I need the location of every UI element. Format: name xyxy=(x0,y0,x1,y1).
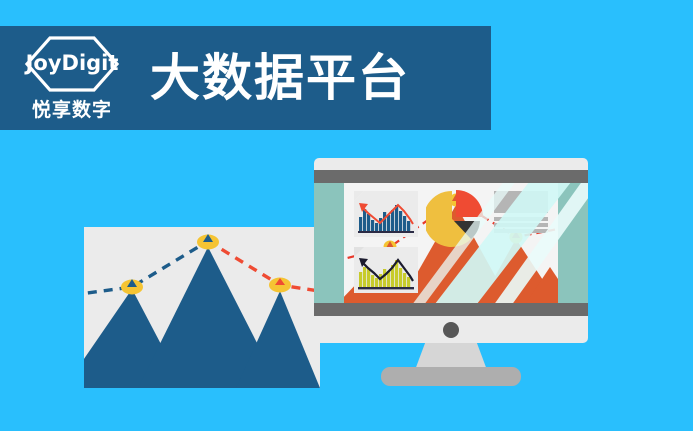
monitor-bezel-top xyxy=(314,170,588,183)
illustration-canvas: JoyDigit 悦享数字 大数据平台 xyxy=(0,0,693,431)
header-banner: JoyDigit 悦享数字 大数据平台 xyxy=(0,26,491,130)
logo-wordmark: JoyDigit xyxy=(26,53,119,74)
image-placeholder xyxy=(494,191,548,213)
desktop-monitor xyxy=(314,158,588,343)
monitor-frame xyxy=(314,158,588,343)
logo-chinese-name: 悦享数字 xyxy=(32,95,112,122)
text-line xyxy=(494,229,548,233)
mountain-shapes xyxy=(84,247,320,388)
monitor-bezel-bottom xyxy=(314,303,588,316)
text-line xyxy=(494,223,548,227)
text-line xyxy=(494,217,548,221)
pie-chart xyxy=(426,189,484,247)
dashboard-viewport xyxy=(344,183,558,303)
monitor-stand-base xyxy=(381,367,521,386)
hexagon-outline-icon: JoyDigit xyxy=(20,35,124,93)
monitor-screen xyxy=(314,183,588,303)
banner-title: 大数据平台 xyxy=(150,53,410,103)
logo: JoyDigit 悦享数字 xyxy=(12,32,132,124)
yellow-bar-chart-card xyxy=(354,247,418,293)
mountain-trend-panel xyxy=(84,227,320,388)
power-button-icon[interactable] xyxy=(443,322,459,338)
monitor-stand-neck xyxy=(415,343,487,370)
text-placeholder-block xyxy=(494,191,548,233)
blue-bar-chart-card xyxy=(354,191,418,237)
